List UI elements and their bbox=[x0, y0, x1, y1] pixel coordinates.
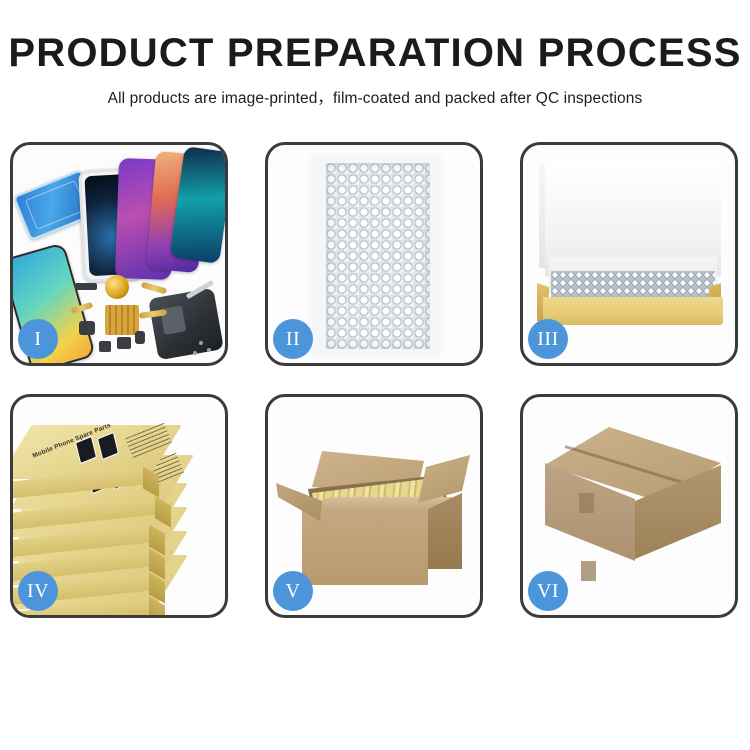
step-numeral: III bbox=[537, 329, 558, 349]
phone-backplate-icon bbox=[148, 288, 224, 361]
step-numeral: II bbox=[286, 329, 300, 349]
step-badge-2: II bbox=[273, 319, 313, 359]
page-title: PRODUCT PREPARATION PROCESS bbox=[0, 32, 750, 74]
page-subtitle: All products are image-printed，film-coat… bbox=[0, 86, 750, 108]
step-numeral: IV bbox=[27, 581, 49, 601]
chip-part-icon bbox=[75, 283, 97, 290]
header: PRODUCT PREPARATION PROCESS All products… bbox=[0, 32, 750, 108]
flex-cable-icon bbox=[141, 282, 168, 295]
step-badge-1: I bbox=[18, 319, 58, 359]
box-tray-front-icon bbox=[543, 297, 723, 325]
step-numeral: I bbox=[34, 329, 41, 349]
steps-grid: I II bbox=[10, 142, 740, 618]
step-card-4[interactable]: Mobile Phone Spare Parts Mobile Phone Sp… bbox=[10, 394, 228, 618]
step-card-2[interactable]: II bbox=[265, 142, 483, 366]
step-card-3[interactable]: III bbox=[520, 142, 738, 366]
step-numeral: VI bbox=[537, 581, 559, 601]
step-badge-4: IV bbox=[18, 571, 58, 611]
step-badge-5: V bbox=[273, 571, 313, 611]
steps-row-top: I II bbox=[10, 142, 740, 366]
step-card-1[interactable]: I bbox=[10, 142, 228, 366]
carton-front-face-icon bbox=[302, 509, 428, 585]
bubble-wrap-icon bbox=[326, 163, 430, 349]
carton-tape-patch-icon bbox=[579, 493, 594, 513]
steps-row-bottom: Mobile Phone Spare Parts Mobile Phone Sp… bbox=[10, 394, 740, 618]
copper-coil-icon bbox=[105, 275, 129, 299]
chip-part-icon bbox=[135, 331, 145, 344]
screw-icon bbox=[193, 351, 197, 355]
screw-icon bbox=[207, 348, 211, 352]
chip-part-icon bbox=[79, 321, 95, 335]
chip-part-icon bbox=[117, 337, 131, 349]
connector-grid-icon bbox=[105, 305, 139, 335]
carton-flap-right-icon bbox=[418, 455, 470, 503]
carton-tape-patch-icon bbox=[581, 561, 596, 581]
step-badge-3: III bbox=[528, 319, 568, 359]
chip-part-icon bbox=[99, 341, 111, 352]
bubble-wrap-contents-icon bbox=[551, 271, 715, 299]
screw-icon bbox=[199, 341, 203, 345]
product-preparation-infographic: PRODUCT PREPARATION PROCESS All products… bbox=[0, 0, 750, 750]
step-badge-6: VI bbox=[528, 571, 568, 611]
step-numeral: V bbox=[286, 581, 301, 601]
step-card-6[interactable]: VI bbox=[520, 394, 738, 618]
step-card-5[interactable]: V bbox=[265, 394, 483, 618]
